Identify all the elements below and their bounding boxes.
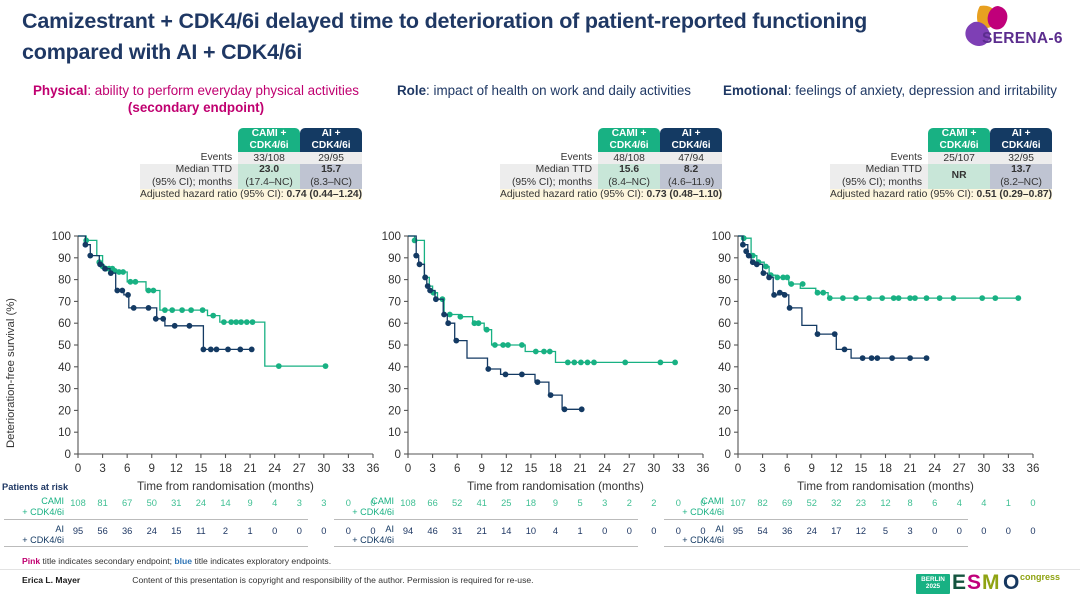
svg-text:80: 80: [58, 274, 71, 287]
at-risk-value: 8: [900, 498, 920, 508]
events-ai: 29/95: [300, 152, 362, 164]
stats-table-physical: CAMI +CDK4/6i AI +CDK4/6i Events 33/108 …: [140, 128, 362, 200]
at-risk-value: 1: [998, 498, 1018, 508]
at-risk-value: 54: [753, 526, 773, 536]
svg-text:9: 9: [809, 462, 815, 475]
at-risk-value: 5: [876, 526, 896, 536]
svg-text:Deterioration-free survival (%: Deterioration-free survival (%): [5, 298, 17, 448]
at-risk-value: 31: [447, 526, 467, 536]
page-title: Camizestrant + CDK4/6i delayed time to d…: [22, 6, 922, 67]
esmo-letter-s: S: [967, 571, 980, 595]
svg-text:Time from randomisation (month: Time from randomisation (months): [467, 480, 644, 493]
svg-text:0: 0: [75, 462, 81, 475]
svg-text:0: 0: [395, 448, 401, 461]
hazard-ratio-band: Adjusted hazard ratio (95% CI): 0.51 (0.…: [830, 189, 1052, 200]
svg-text:100: 100: [382, 230, 401, 243]
row-label-ttd: Median TTD(95% CI); months: [500, 164, 598, 189]
at-risk-value: 0: [998, 526, 1018, 536]
at-risk-value: 0: [289, 526, 309, 536]
at-risk-value: 69: [777, 498, 797, 508]
at-risk-label-ai: AI+ CDK4/6i: [336, 524, 394, 545]
ttd-ai: 15.7(8.3–NC): [300, 164, 362, 189]
events-ai: 32/95: [990, 152, 1052, 164]
ttd-cami: 15.6(8.4–NC): [598, 164, 660, 189]
stats-corner: [140, 128, 238, 152]
at-risk-value: 18: [521, 498, 541, 508]
at-risk-value: 0: [595, 526, 615, 536]
at-risk-value: 50: [142, 498, 162, 508]
at-risk-value: 21: [472, 526, 492, 536]
svg-text:50: 50: [58, 339, 71, 352]
svg-text:21: 21: [904, 462, 917, 475]
events-cami: 48/108: [598, 152, 660, 164]
at-risk-value: 0: [925, 526, 945, 536]
serena-logo-text: SERENA-6: [982, 30, 1063, 48]
at-risk-value: 3: [314, 498, 334, 508]
at-risk-value: 0: [265, 526, 285, 536]
at-risk-value: 6: [925, 498, 945, 508]
svg-text:18: 18: [879, 462, 892, 475]
at-risk-separator: [4, 546, 308, 547]
at-risk-value: 9: [546, 498, 566, 508]
svg-text:70: 70: [58, 295, 71, 308]
svg-text:60: 60: [58, 317, 71, 330]
at-risk-value: 2: [619, 498, 639, 508]
svg-text:3: 3: [429, 462, 435, 475]
at-risk-value: 108: [68, 498, 88, 508]
svg-text:60: 60: [388, 317, 401, 330]
svg-text:6: 6: [124, 462, 130, 475]
at-risk-value: 0: [1023, 526, 1043, 536]
at-risk-value: 82: [753, 498, 773, 508]
events-cami: 33/108: [238, 152, 300, 164]
svg-text:10: 10: [388, 426, 401, 439]
panel-emotional-heading: Emotional: feelings of anxiety, depressi…: [700, 82, 1080, 99]
at-risk-value: 23: [851, 498, 871, 508]
at-risk-value: 67: [117, 498, 137, 508]
svg-text:Time from randomisation (month: Time from randomisation (months): [797, 480, 974, 493]
svg-text:50: 50: [718, 339, 731, 352]
at-risk-value: 9: [240, 498, 260, 508]
svg-text:3: 3: [99, 462, 105, 475]
at-risk-value: 108: [398, 498, 418, 508]
svg-text:10: 10: [58, 426, 71, 439]
at-risk-value: 25: [496, 498, 516, 508]
stats-corner: [500, 128, 598, 152]
svg-text:60: 60: [718, 317, 731, 330]
at-risk-value: 0: [974, 526, 994, 536]
esmo-letter-m: M: [982, 571, 999, 595]
svg-text:27: 27: [953, 462, 966, 475]
at-risk-value: 24: [802, 526, 822, 536]
at-risk-value: 94: [398, 526, 418, 536]
at-risk-value: 4: [949, 498, 969, 508]
at-risk-value: 5: [570, 498, 590, 508]
at-risk-value: 12: [851, 526, 871, 536]
serena-6-logo: SERENA-6: [954, 2, 1072, 54]
ttd-ai: 13.7(8.2–NC): [990, 164, 1052, 189]
row-label-events: Events: [140, 152, 238, 164]
svg-text:90: 90: [388, 252, 401, 265]
row-label-events: Events: [500, 152, 598, 164]
svg-text:3: 3: [759, 462, 765, 475]
at-risk-value: 66: [423, 498, 443, 508]
svg-text:12: 12: [500, 462, 513, 475]
row-label-ttd: Median TTD(95% CI); months: [830, 164, 928, 189]
svg-text:20: 20: [58, 404, 71, 417]
at-risk-label-ai: AI+ CDK4/6i: [666, 524, 724, 545]
at-risk-value: 52: [447, 498, 467, 508]
svg-text:20: 20: [718, 404, 731, 417]
col-header-cami: CAMI +CDK4/6i: [598, 128, 660, 152]
svg-text:90: 90: [58, 252, 71, 265]
at-risk-value: 56: [93, 526, 113, 536]
slide-root: Camizestrant + CDK4/6i delayed time to d…: [0, 0, 1080, 605]
svg-text:50: 50: [388, 339, 401, 352]
at-risk-value: 4: [546, 526, 566, 536]
stats-table-role: CAMI +CDK4/6i AI +CDK4/6i Events 48/108 …: [500, 128, 722, 200]
km-chart-emotional: 1009080706050403020100036912151821242730…: [660, 226, 1057, 511]
svg-text:24: 24: [268, 462, 281, 475]
at-risk-value: 32: [826, 498, 846, 508]
at-risk-value: 46: [423, 526, 443, 536]
svg-text:9: 9: [479, 462, 485, 475]
svg-text:30: 30: [977, 462, 990, 475]
at-risk-value: 3: [900, 526, 920, 536]
col-header-ai: AI +CDK4/6i: [300, 128, 362, 152]
svg-text:40: 40: [58, 361, 71, 374]
at-risk-value: 17: [826, 526, 846, 536]
at-risk-value: 0: [644, 526, 664, 536]
svg-text:0: 0: [405, 462, 411, 475]
ttd-cami: 23.0(17.4–NC): [238, 164, 300, 189]
svg-text:70: 70: [718, 295, 731, 308]
stats-table-emotional: CAMI +CDK4/6i AI +CDK4/6i Events 25/107 …: [830, 128, 1052, 200]
svg-text:100: 100: [52, 230, 71, 243]
at-risk-value: 36: [117, 526, 137, 536]
at-risk-separator: [664, 546, 968, 547]
at-risk-separator: [4, 519, 308, 520]
svg-text:36: 36: [1027, 462, 1040, 475]
at-risk-value: 107: [728, 498, 748, 508]
svg-text:18: 18: [549, 462, 562, 475]
at-risk-value: 81: [93, 498, 113, 508]
svg-text:80: 80: [388, 274, 401, 287]
esmo-letter-o: O: [1003, 571, 1018, 595]
svg-text:18: 18: [219, 462, 232, 475]
svg-text:33: 33: [1002, 462, 1015, 475]
svg-text:15: 15: [854, 462, 867, 475]
at-risk-value: 0: [619, 526, 639, 536]
at-risk-value: 15: [166, 526, 186, 536]
svg-text:30: 30: [718, 383, 731, 396]
footnote-endpoint-key: Pink title indicates secondary endpoint;…: [22, 556, 331, 566]
at-risk-label-ai: AI+ CDK4/6i: [6, 524, 64, 545]
svg-text:30: 30: [647, 462, 660, 475]
at-risk-separator: [664, 519, 968, 520]
svg-text:40: 40: [718, 361, 731, 374]
at-risk-value: 0: [1023, 498, 1043, 508]
at-risk-value: 95: [728, 526, 748, 536]
at-risk-value: 3: [289, 498, 309, 508]
svg-text:30: 30: [317, 462, 330, 475]
at-risk-value: 2: [644, 498, 664, 508]
panel-physical-heading: Physical: ability to perform everyday ph…: [0, 82, 392, 117]
footnote-copyright: Erica L. MayerContent of this presentati…: [22, 575, 534, 585]
stats-corner: [830, 128, 928, 152]
at-risk-separator: [334, 519, 638, 520]
at-risk-value: 14: [216, 498, 236, 508]
svg-text:24: 24: [598, 462, 611, 475]
svg-text:40: 40: [388, 361, 401, 374]
at-risk-value: 4: [974, 498, 994, 508]
svg-text:9: 9: [149, 462, 155, 475]
svg-text:90: 90: [718, 252, 731, 265]
at-risk-value: 24: [191, 498, 211, 508]
svg-text:70: 70: [388, 295, 401, 308]
svg-text:21: 21: [244, 462, 257, 475]
events-cami: 25/107: [928, 152, 990, 164]
at-risk-value: 1: [570, 526, 590, 536]
at-risk-value: 4: [265, 498, 285, 508]
ttd-cami: NR: [928, 164, 990, 189]
at-risk-value: 31: [166, 498, 186, 508]
at-risk-label-cami: CAMI+ CDK4/6i: [666, 496, 724, 517]
esmo-berlin-badge: BERLIN2025: [916, 574, 950, 594]
svg-text:12: 12: [170, 462, 183, 475]
svg-text:10: 10: [718, 426, 731, 439]
svg-text:0: 0: [735, 462, 741, 475]
svg-text:21: 21: [574, 462, 587, 475]
at-risk-value: 14: [496, 526, 516, 536]
at-risk-value: 12: [876, 498, 896, 508]
row-label-ttd: Median TTD(95% CI); months: [140, 164, 238, 189]
col-header-cami: CAMI +CDK4/6i: [238, 128, 300, 152]
svg-text:Time from randomisation (month: Time from randomisation (months): [137, 480, 314, 493]
svg-text:30: 30: [58, 383, 71, 396]
col-header-cami: CAMI +CDK4/6i: [928, 128, 990, 152]
svg-text:0: 0: [725, 448, 731, 461]
svg-text:15: 15: [524, 462, 537, 475]
svg-text:27: 27: [623, 462, 636, 475]
svg-text:20: 20: [388, 404, 401, 417]
at-risk-value: 11: [191, 526, 211, 536]
at-risk-value: 52: [802, 498, 822, 508]
at-risk-value: 95: [68, 526, 88, 536]
at-risk-value: 24: [142, 526, 162, 536]
at-risk-label-cami: CAMI+ CDK4/6i: [6, 496, 64, 517]
row-label-events: Events: [830, 152, 928, 164]
at-risk-value: 1: [240, 526, 260, 536]
svg-text:12: 12: [830, 462, 843, 475]
svg-text:6: 6: [784, 462, 790, 475]
svg-text:24: 24: [928, 462, 941, 475]
esmo-congress-logo: BERLIN2025 E S M O congress: [916, 570, 1066, 598]
at-risk-value: 10: [521, 526, 541, 536]
svg-text:15: 15: [194, 462, 207, 475]
esmo-congress-text: congress: [1020, 572, 1060, 582]
at-risk-value: 0: [314, 526, 334, 536]
at-risk-value: 3: [595, 498, 615, 508]
svg-text:80: 80: [718, 274, 731, 287]
svg-text:100: 100: [712, 230, 731, 243]
hazard-ratio-band: Adjusted hazard ratio (95% CI): 0.74 (0.…: [140, 189, 362, 200]
at-risk-value: 2: [216, 526, 236, 536]
svg-text:30: 30: [388, 383, 401, 396]
patients-at-risk-title: Patients at risk: [2, 482, 68, 492]
svg-text:6: 6: [454, 462, 460, 475]
at-risk-label-cami: CAMI+ CDK4/6i: [336, 496, 394, 517]
svg-text:27: 27: [293, 462, 306, 475]
at-risk-value: 41: [472, 498, 492, 508]
hazard-ratio-band: Adjusted hazard ratio (95% CI): 0.73 (0.…: [500, 189, 722, 200]
svg-text:0: 0: [65, 448, 71, 461]
col-header-ai: AI +CDK4/6i: [990, 128, 1052, 152]
at-risk-separator: [334, 546, 638, 547]
at-risk-value: 36: [777, 526, 797, 536]
esmo-letter-e: E: [952, 571, 965, 595]
at-risk-value: 0: [949, 526, 969, 536]
panel-role-heading: Role: impact of health on work and daily…: [368, 82, 720, 99]
